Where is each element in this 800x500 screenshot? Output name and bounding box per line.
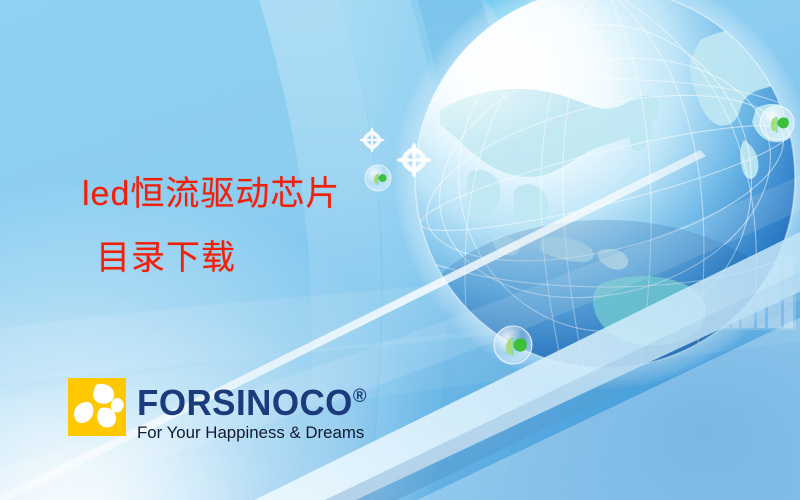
eco-bubble	[365, 165, 391, 191]
brand-text: FORSINOCO® For Your Happiness & Dreams	[137, 378, 374, 443]
four-petal-flower-mark	[68, 378, 126, 436]
brand-tagline: For Your Happiness & Dreams	[137, 423, 371, 443]
headline-line-1: led恒流驱动芯片	[82, 162, 340, 226]
brand-logo: FORSINOCO® For Your Happiness & Dreams	[68, 378, 374, 443]
flower-sparkle	[360, 128, 385, 153]
brand-wordmark: FORSINOCO®	[137, 379, 366, 421]
brand-wordmark-text: FORSINOCO	[137, 382, 353, 423]
promo-banner: led恒流驱动芯片 目录下载 FORSINOCO® For Your Happi…	[0, 0, 800, 500]
headline-block: led恒流驱动芯片 目录下载	[82, 162, 340, 290]
flower-sparkle	[397, 143, 432, 178]
headline-line-2: 目录下载	[82, 226, 340, 290]
registered-trademark-symbol: ®	[353, 386, 367, 407]
eco-bubble	[494, 326, 532, 364]
eco-bubble	[760, 106, 794, 140]
